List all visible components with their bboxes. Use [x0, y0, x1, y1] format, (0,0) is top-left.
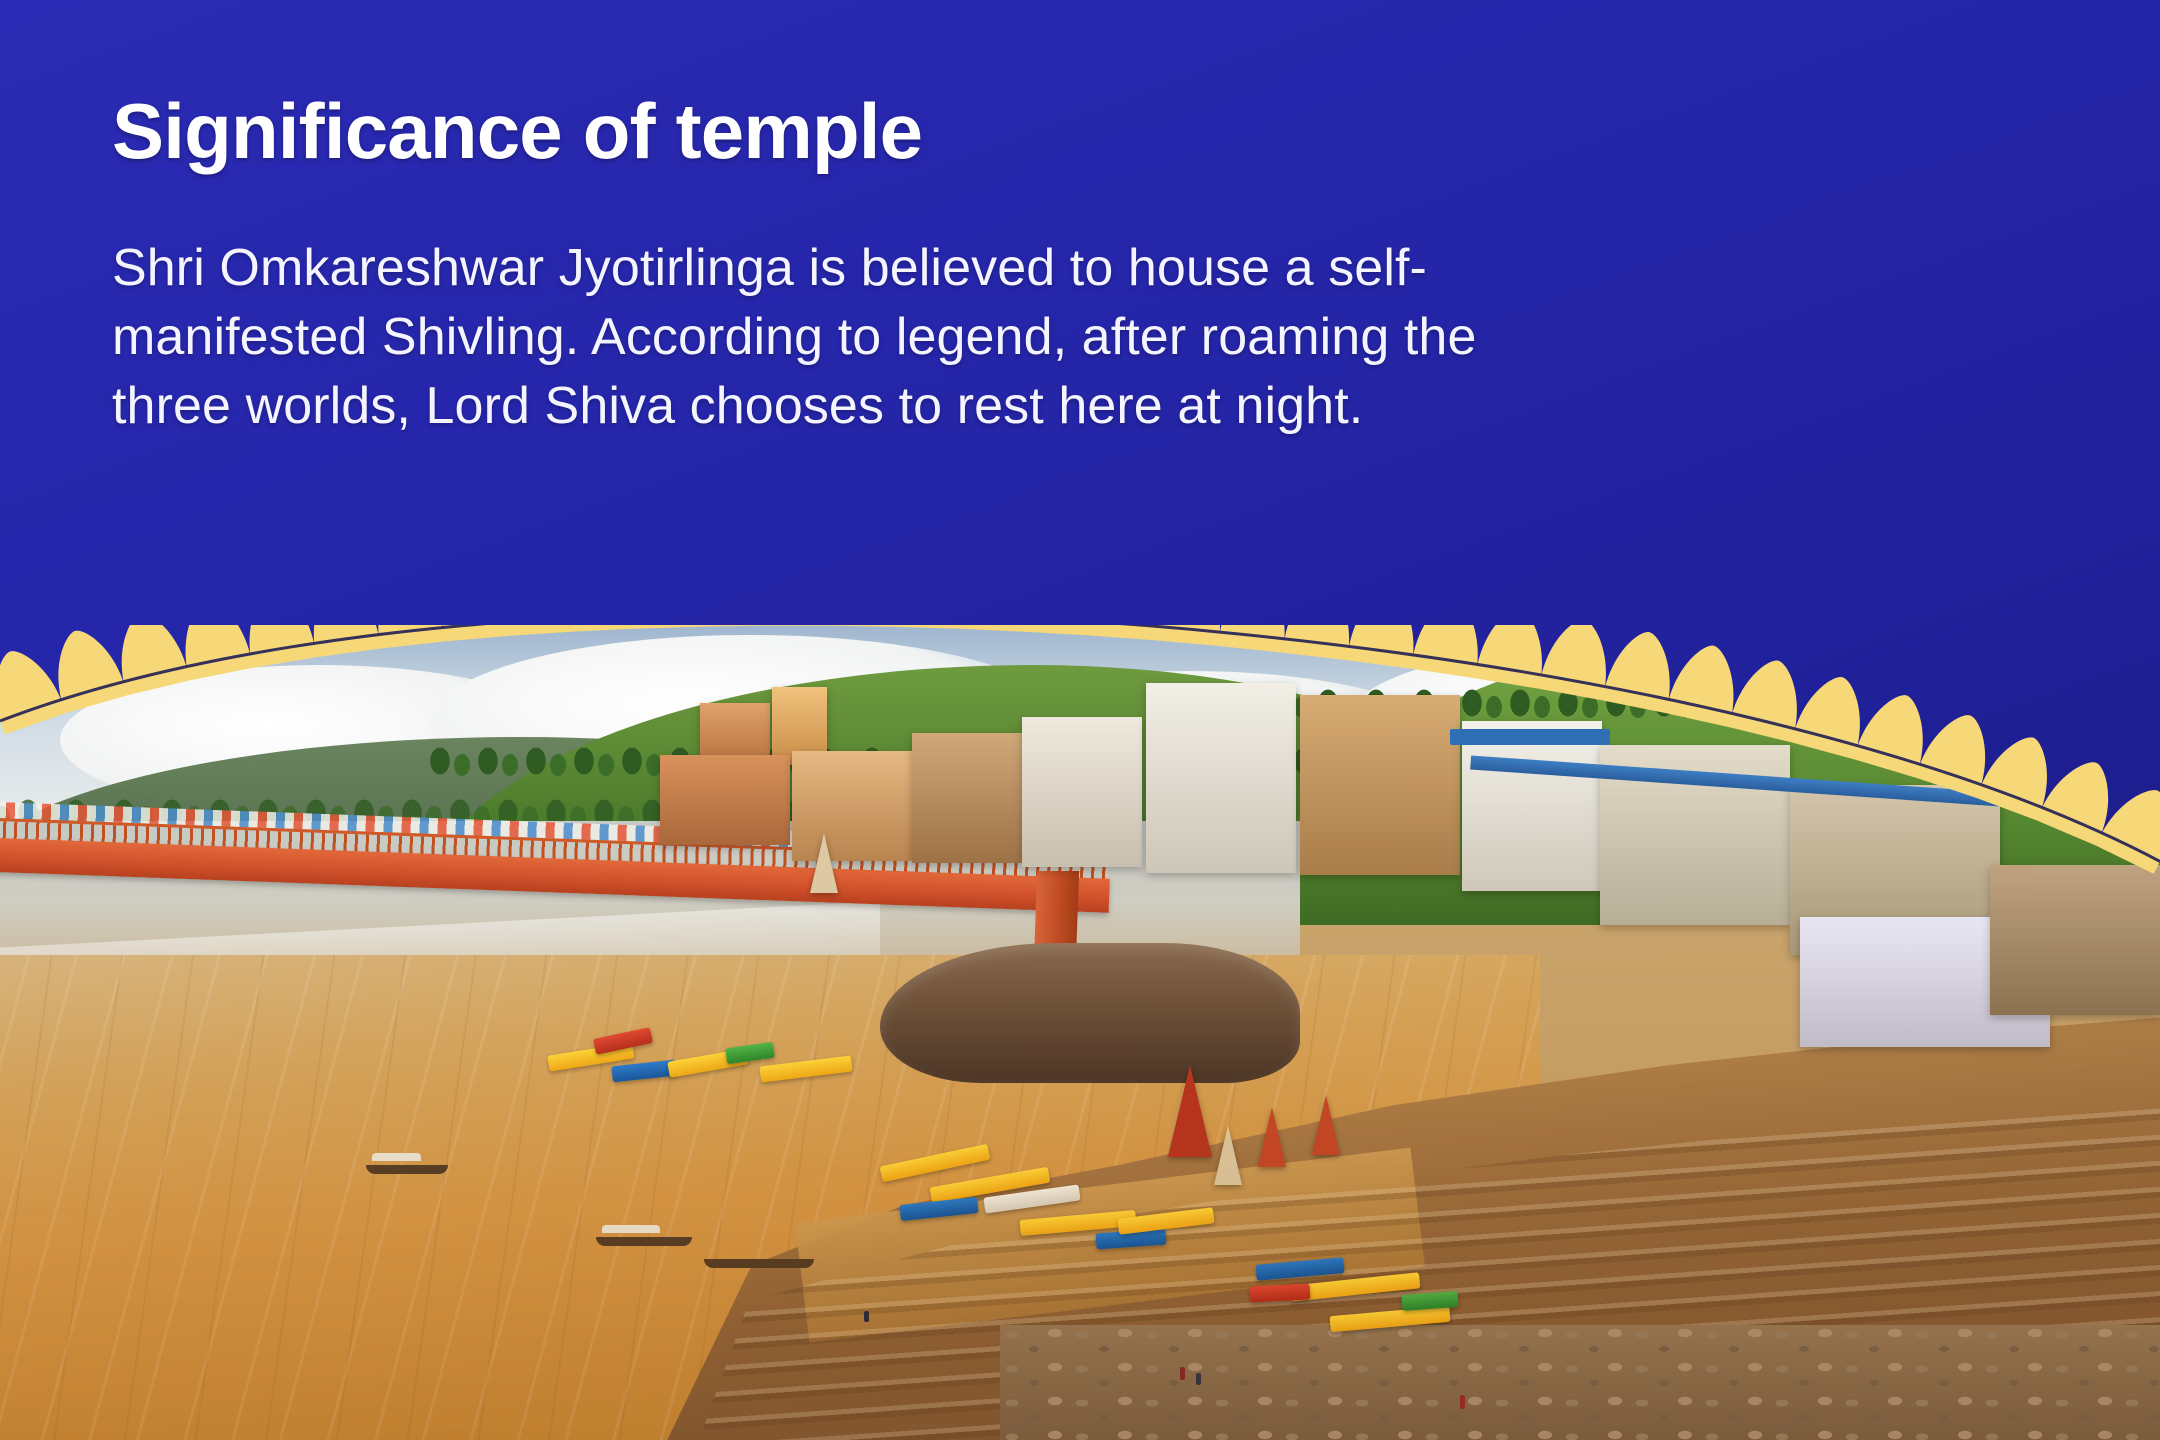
body-paragraph: Shri Omkareshwar Jyotirlinga is believed… — [112, 234, 1947, 441]
photo-image — [0, 625, 2160, 1440]
photo-frame — [0, 625, 2160, 1440]
text-content-block: Significance of temple Shri Omkareshwar … — [112, 92, 1972, 441]
body-line-3: three worlds, Lord Shiva chooses to rest… — [112, 372, 1947, 441]
slide-root: Significance of temple Shri Omkareshwar … — [0, 0, 2160, 1440]
body-line-2: manifested Shivling. According to legend… — [112, 303, 1947, 372]
photo-color-grade — [0, 625, 2160, 1440]
body-line-1: Shri Omkareshwar Jyotirlinga is believed… — [112, 234, 1947, 303]
page-title: Significance of temple — [112, 92, 1972, 172]
